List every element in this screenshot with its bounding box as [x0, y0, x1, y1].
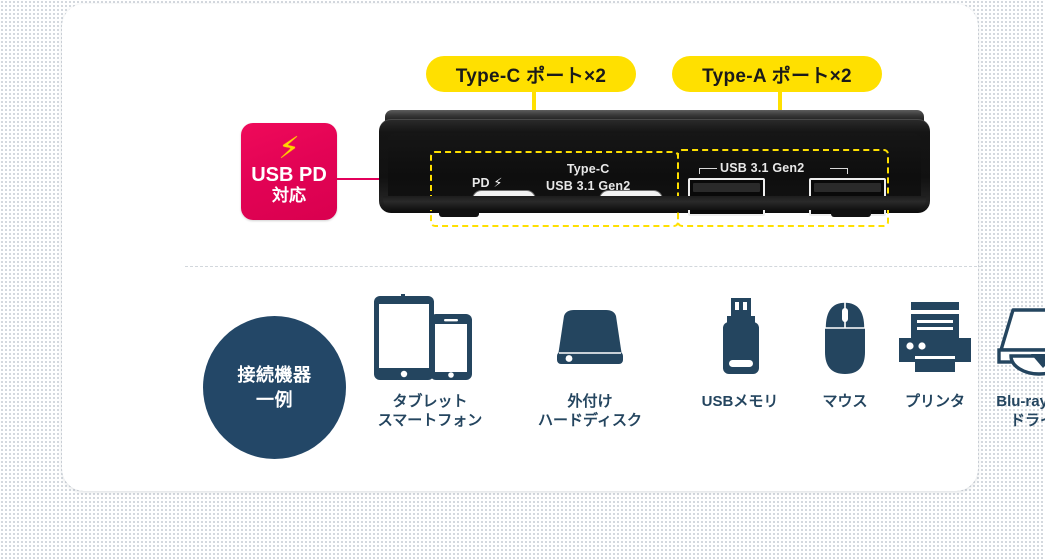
device-item-hdd: 外付け ハードディスク: [510, 294, 670, 431]
hub-foot-left: [439, 209, 479, 217]
usb-a-bracket-left: [699, 168, 717, 169]
type-c-spec-line1: Type-C: [546, 161, 630, 178]
hub-bottom-shelf: [383, 196, 926, 210]
content-card: Type-C ポート×2 Type-A ポート×2 ⚡ USB PD 対応 PD…: [62, 4, 978, 491]
bolt-icon: ⚡: [493, 176, 502, 190]
bluray-dvd-drive-icon: [987, 294, 1045, 384]
pd-port-label-text: PD: [472, 176, 490, 190]
usb-a-bracket-right: [830, 168, 848, 169]
connected-devices-section: 接続機器 一例 タブレット スマートフォン: [185, 294, 985, 464]
type-a-port-1-tongue: [693, 183, 760, 192]
type-a-port-2-tongue: [814, 183, 881, 192]
callout-type-a: Type-A ポート×2: [672, 56, 882, 92]
hub-foot-right: [831, 209, 871, 217]
connected-devices-badge: 接続機器 一例: [203, 316, 346, 459]
section-divider: [185, 266, 982, 267]
type-c-spec-label: Type-C USB 3.1 Gen2: [546, 161, 630, 195]
device-item-printer-caption: プリンタ: [905, 393, 965, 412]
device-item-tablet-caption: タブレット スマートフォン: [378, 393, 483, 431]
connected-devices-badge-line2: 一例: [256, 388, 293, 412]
device-item-mouse-caption: マウス: [822, 393, 867, 412]
device-item-hdd-caption: 外付け ハードディスク: [538, 393, 642, 431]
usb-pd-badge-line1: USB PD: [251, 165, 327, 186]
connected-devices-badge-line1: 接続機器: [238, 363, 312, 387]
callout-type-c: Type-C ポート×2: [426, 56, 636, 92]
usb-memory-icon: [705, 294, 775, 384]
pd-port-label: PD ⚡: [472, 175, 502, 190]
mouse-icon: [813, 294, 877, 384]
tablet-smartphone-icon: [370, 294, 490, 384]
usb-pd-badge-line2: 対応: [272, 186, 306, 206]
hub-front-face: PD ⚡ Type-C USB 3.1 Gen2 USB 3.1 Gen2: [388, 133, 921, 205]
device-item-bluray: Blu-ray/DVD ドライブ: [960, 294, 1045, 431]
bolt-icon: ⚡: [278, 135, 299, 162]
usb-hub-device: PD ⚡ Type-C USB 3.1 Gen2 USB 3.1 Gen2: [379, 110, 930, 222]
device-item-usb-memory-caption: USBメモリ: [702, 393, 779, 412]
external-hdd-icon: [540, 294, 640, 384]
device-item-bluray-caption: Blu-ray/DVD ドライブ: [996, 393, 1045, 431]
usb-pd-badge: ⚡ USB PD 対応: [241, 123, 337, 220]
type-a-spec-label: USB 3.1 Gen2: [720, 161, 804, 175]
device-item-tablet: タブレット スマートフォン: [350, 294, 510, 431]
